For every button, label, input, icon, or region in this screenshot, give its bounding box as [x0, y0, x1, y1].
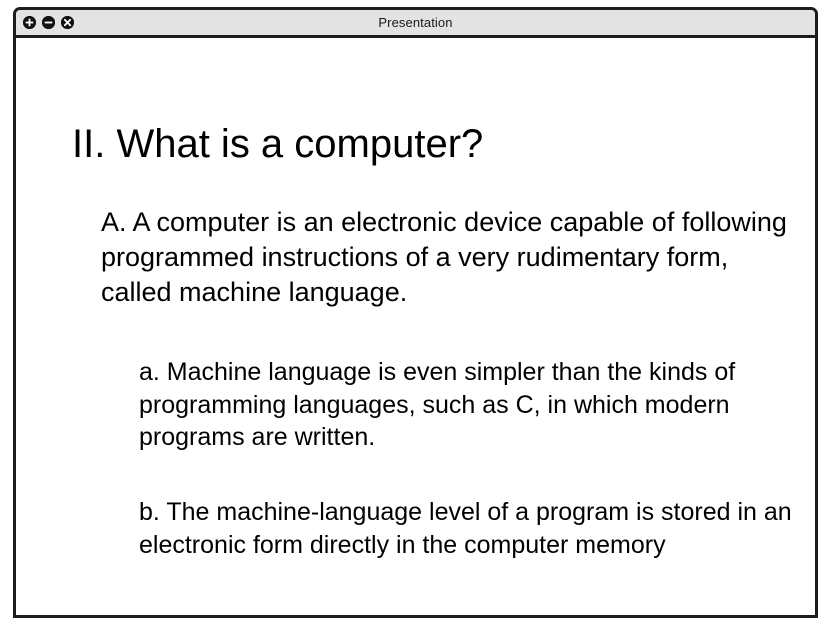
window-title: Presentation — [16, 10, 815, 35]
slide-heading: II. What is a computer? — [72, 121, 483, 167]
close-button[interactable] — [61, 16, 74, 29]
slide-item-b-level2: b. The machine-language level of a progr… — [139, 496, 815, 561]
maximize-button[interactable] — [23, 16, 36, 29]
slide-item-a-level1: A. A computer is an electronic device ca… — [101, 205, 796, 310]
window-controls — [23, 10, 74, 35]
presentation-window: Presentation II. What is a computer? A. … — [13, 7, 818, 618]
screen-root: Presentation II. What is a computer? A. … — [0, 0, 832, 626]
window-titlebar[interactable]: Presentation — [16, 10, 815, 38]
slide-canvas: II. What is a computer? A. A computer is… — [16, 38, 815, 615]
slide-item-a-level2: a. Machine language is even simpler than… — [139, 356, 815, 454]
minimize-button[interactable] — [42, 16, 55, 29]
